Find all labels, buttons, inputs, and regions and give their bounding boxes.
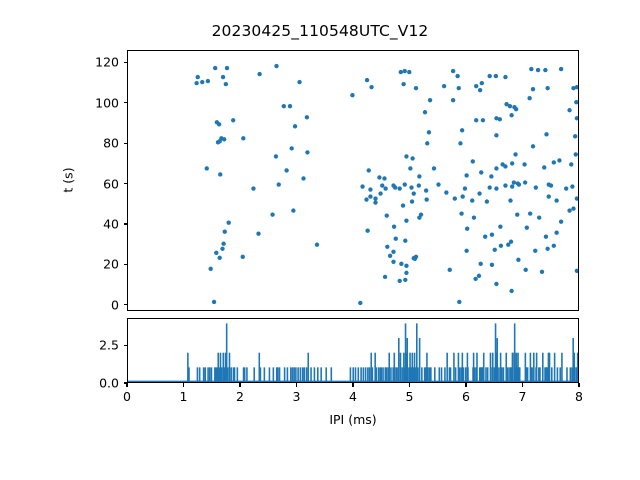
histogram-bar [378,367,380,382]
scatter-point [510,161,514,165]
scatter-point [350,93,354,97]
scatter-point [241,136,245,140]
scatter-point [461,194,465,198]
scatter-point [573,134,577,138]
histogram-bar [492,353,494,382]
scatter-point [490,263,494,267]
histogram-x-tick-mark [126,383,127,387]
scatter-point [378,191,382,195]
scatter-point [407,70,411,74]
scatter-point [414,86,418,90]
scatter-point [478,88,482,92]
histogram-bar [396,367,398,382]
scatter-point [251,186,255,190]
scatter-point [365,78,369,82]
scatter-point [523,180,527,184]
scatter-point [391,250,395,254]
histogram-bar [304,367,306,382]
scatter-point [494,74,498,78]
scatter-point [448,268,452,272]
histogram-bar [476,353,478,382]
scatter-point [274,64,278,68]
scatter-point [494,282,498,286]
histogram-bar [360,367,362,382]
scatter-point [536,68,540,72]
histogram-x-tick-label: 6 [462,389,470,404]
scatter-point [503,75,507,79]
scatter-point [571,206,575,210]
histogram-bar [310,367,312,382]
histogram-bar [369,367,371,382]
scatter-point [385,245,389,249]
scatter-point [221,75,225,79]
histogram-bar [367,367,369,382]
histogram-bar [559,367,561,382]
scatter-point [509,289,513,293]
scatter-point [392,224,396,228]
scatter-point [231,118,235,122]
histogram-bar [363,367,365,382]
histogram-bar [320,367,322,382]
scatter-point [542,165,546,169]
histogram-bar [297,367,299,382]
histogram-bar [459,367,461,382]
scatter-point [377,175,381,179]
scatter-point [509,240,513,244]
scatter-point [399,70,403,74]
figure-title: 20230425_110548UTC_V12 [0,22,640,40]
histogram-bar [376,367,378,382]
histogram-bar [386,367,388,382]
histogram-bar [439,367,441,382]
scatter-point [360,184,364,188]
scatter-point [224,82,228,86]
histogram-x-tick-mark [465,383,466,387]
histogram-bar [519,367,521,382]
histogram-bar [394,353,396,382]
histogram-bar [205,367,207,382]
scatter-point [206,79,210,83]
scatter-point [459,211,463,215]
scatter-point [457,300,461,304]
histogram-baseline [128,381,578,382]
scatter-point [367,168,371,172]
scatter-point [522,162,526,166]
scatter-point [567,208,571,212]
scatter-point [404,154,408,158]
scatter-point [498,117,502,121]
scatter-point [554,198,558,202]
scatter-point [512,180,516,184]
histogram-bars-layer [128,319,578,382]
scatter-y-tick-label: 20 [67,257,119,272]
scatter-point [470,198,474,202]
histogram-bar [390,367,392,382]
histogram-bar [430,367,432,382]
histogram-bar [227,367,229,382]
scatter-point [575,196,578,200]
scatter-point [564,186,568,190]
scatter-point [227,220,231,224]
scatter-point [508,104,512,108]
scatter-point [575,269,578,273]
histogram-bar [507,367,509,382]
scatter-point [471,159,475,163]
scatter-point [483,235,487,239]
histogram-bar [427,367,429,382]
histogram-x-tick-mark [522,383,523,387]
scatter-point [474,118,478,122]
histogram-bar [229,353,231,382]
histogram-bar [421,367,423,382]
scatter-point [472,215,476,219]
scatter-point [373,200,377,204]
scatter-point [403,239,407,243]
histogram-bar [314,367,316,382]
histogram-bar [253,367,255,382]
scatter-point [479,170,483,174]
scatter-point [425,141,429,145]
histogram-bar [551,367,553,382]
scatter-point [574,152,578,156]
scatter-point [293,124,297,128]
histogram-bar [350,367,352,382]
scatter-point [274,154,278,158]
histogram-bar [398,338,400,382]
scatter-point [529,67,533,71]
histogram-bar [512,353,514,382]
scatter-point [465,227,469,231]
scatter-point [388,254,392,258]
histogram-bar [260,367,262,382]
histogram-bar [264,367,266,382]
histogram-bar [542,353,544,382]
histogram-bar [331,367,333,382]
scatter-point [417,215,421,219]
scatter-point [528,211,532,215]
histogram-x-tick-mark [296,383,297,387]
scatter-point [508,198,512,202]
histogram-bar [536,353,538,382]
scatter-point [315,243,319,247]
scatter-point [368,187,372,191]
histogram-bar [496,338,498,382]
scatter-point [369,85,373,89]
histogram-bar [446,353,448,382]
scatter-point [423,110,427,114]
scatter-point [404,218,408,222]
scatter-point [516,258,520,262]
histogram-x-tick-label: 3 [293,389,301,404]
scatter-point [373,196,377,200]
scatter-point [463,186,467,190]
scatter-y-tick-mark [124,143,128,144]
scatter-point [401,82,405,86]
histogram-bar [302,367,304,382]
scatter-point [277,182,281,186]
scatter-point [481,118,485,122]
scatter-point [208,267,212,271]
scatter-point [301,176,305,180]
histogram-bar [292,367,294,382]
histogram-bar [419,338,421,382]
histogram-bar [388,353,390,382]
histogram-x-tick-label: 1 [180,389,188,404]
histogram-y-tick-mark [124,345,128,346]
scatter-point [451,69,455,73]
histogram-bar [290,367,292,382]
histogram-bar [306,367,308,382]
scatter-point [494,133,498,137]
scatter-point [432,166,436,170]
scatter-point [537,215,541,219]
scatter-point [364,197,368,201]
scatter-point [569,162,573,166]
histogram-bar [382,367,384,382]
scatter-point [513,152,517,156]
scatter-point [218,172,222,176]
histogram-bar [307,353,309,382]
scatter-point [397,186,401,190]
scatter-point [451,98,455,102]
scatter-point [458,141,462,145]
histogram-bar [549,353,551,382]
histogram-bar [533,353,535,382]
scatter-point [427,130,431,134]
scatter-point [516,181,520,185]
scatter-y-tick-label: 40 [67,217,119,232]
scatter-point [380,183,384,187]
histogram-bar [199,367,201,382]
scatter-point [424,188,428,192]
histogram-bar [557,367,559,382]
scatter-y-tick-mark [124,183,128,184]
histogram-bar [570,367,572,382]
histogram-bar [539,367,541,382]
histogram-bar [561,353,563,382]
scatter-point [487,74,491,78]
scatter-point [490,233,494,237]
histogram-bar [207,367,209,382]
scatter-y-tick-label: 0 [67,297,119,312]
scatter-point [489,174,493,178]
histogram-bar [203,367,205,382]
scatter-point [403,278,407,282]
histogram-x-tick-label: 5 [406,389,414,404]
scatter-point [494,166,498,170]
scatter-point [385,213,389,217]
histogram-x-tick-mark [183,383,184,387]
scatter-point [474,84,478,88]
histogram-bar [527,367,529,382]
histogram-x-tick-mark [578,383,579,387]
histogram-x-tick-label: 0 [123,389,131,404]
scatter-point [424,197,428,201]
scatter-point [559,219,563,223]
scatter-y-tick-label: 100 [67,95,119,110]
scatter-point [477,274,481,278]
scatter-point [453,196,457,200]
scatter-y-axis-label: t (s) [61,167,76,192]
scatter-point [531,87,535,91]
scatter-point [403,182,407,186]
scatter-point [291,208,295,212]
histogram-bar [467,367,469,382]
scatter-point [478,262,482,266]
scatter-point [464,173,468,177]
scatter-point [428,98,432,102]
scatter-point [442,84,446,88]
histogram-y-tick-label: 2.5 [67,338,119,353]
scatter-y-tick-label: 120 [67,55,119,70]
histogram-bar [485,367,487,382]
scatter-point [559,67,563,71]
scatter-point [297,80,301,84]
histogram-bar [372,367,374,382]
scatter-point [409,185,413,189]
histogram-bar [295,367,297,382]
histogram-x-tick-label: 8 [575,389,583,404]
scatter-point [282,104,286,108]
histogram-y-tick-label: 0.0 [67,376,119,391]
scatter-point [487,185,491,189]
histogram-bar [483,353,485,382]
scatter-point [213,66,217,70]
scatter-point [412,256,416,260]
scatter-point [194,81,198,85]
histogram-x-tick-label: 7 [519,389,527,404]
histogram-bar [300,367,302,382]
scatter-point [399,262,403,266]
scatter-point [401,203,405,207]
scatter-plot-area [127,50,579,311]
scatter-point [524,268,528,272]
scatter-point [473,277,477,281]
scatter-point [410,199,414,203]
scatter-point [444,190,448,194]
scatter-point [383,275,387,279]
histogram-bar [325,367,327,382]
scatter-point [552,160,556,164]
scatter-point [225,66,229,70]
histogram-bar [197,367,199,382]
histogram-bar [406,338,408,382]
scatter-point [215,120,219,124]
scatter-point [256,232,260,236]
histogram-bar [463,367,465,382]
scatter-point [494,186,498,190]
scatter-point [567,108,571,112]
scatter-point [545,86,549,90]
scatter-point [457,86,461,90]
scatter-point [554,231,558,235]
histogram-bar [293,367,295,382]
histogram-bar [381,367,383,382]
scatter-point [543,68,547,72]
scatter-point [284,168,288,172]
histogram-bar [287,367,289,382]
histogram-bar [566,367,568,382]
histogram-bar [230,367,232,382]
scatter-point [220,247,224,251]
scatter-point [290,146,294,150]
histogram-bar [501,367,503,382]
scatter-point [394,237,398,241]
histogram-x-axis-label: IPI (ms) [329,412,376,427]
scatter-point [540,270,544,274]
scatter-point [509,113,513,117]
histogram-x-tick-label: 4 [349,389,357,404]
histogram-bar [221,367,223,382]
histogram-bar [365,367,367,382]
scatter-point [547,194,551,198]
scatter-point [305,150,309,154]
scatter-point [397,279,401,283]
scatter-point [408,166,412,170]
scatter-point [270,212,274,216]
scatter-point [403,69,407,73]
scatter-point [417,183,421,187]
scatter-point [533,249,537,253]
histogram-bar [352,367,354,382]
scatter-point [512,105,516,109]
histogram-x-tick-label: 2 [236,389,244,404]
scatter-point [557,158,561,162]
histogram-bar [474,367,476,382]
scatter-point [205,166,209,170]
scatter-point [460,128,464,132]
histogram-bar [498,367,500,382]
histogram-bar [453,353,455,382]
scatter-point [412,191,416,195]
histogram-bar [284,367,286,382]
histogram-bar [455,367,457,382]
histogram-bar [554,353,556,382]
scatter-point [503,164,507,168]
scatter-point [200,80,204,84]
histogram-bar [209,367,211,382]
scatter-point [382,176,386,180]
histogram-x-tick-mark [239,383,240,387]
histogram-plot-area [127,318,579,383]
scatter-point [480,81,484,85]
histogram-bar [441,367,443,382]
scatter-point [241,255,245,259]
histogram-bar [401,367,403,382]
histogram-bar [444,367,446,382]
scatter-y-tick-mark [124,304,128,305]
scatter-point [391,183,395,187]
scatter-point [534,185,538,189]
scatter-point [510,184,514,188]
scatter-point [544,235,548,239]
scatter-point [464,249,468,253]
histogram-bar [531,367,533,382]
scatter-point [527,96,531,100]
histogram-bar [434,367,436,382]
scatter-y-tick-mark [124,62,128,63]
scatter-point [288,104,292,108]
histogram-bar [400,353,402,382]
scatter-point [575,116,578,120]
scatter-point [525,226,529,230]
scatter-y-tick-label: 80 [67,136,119,151]
scatter-point [368,194,372,198]
scatter-point [217,256,221,260]
histogram-bar [490,353,492,382]
scatter-point [545,247,549,251]
histogram-bar [277,367,279,382]
